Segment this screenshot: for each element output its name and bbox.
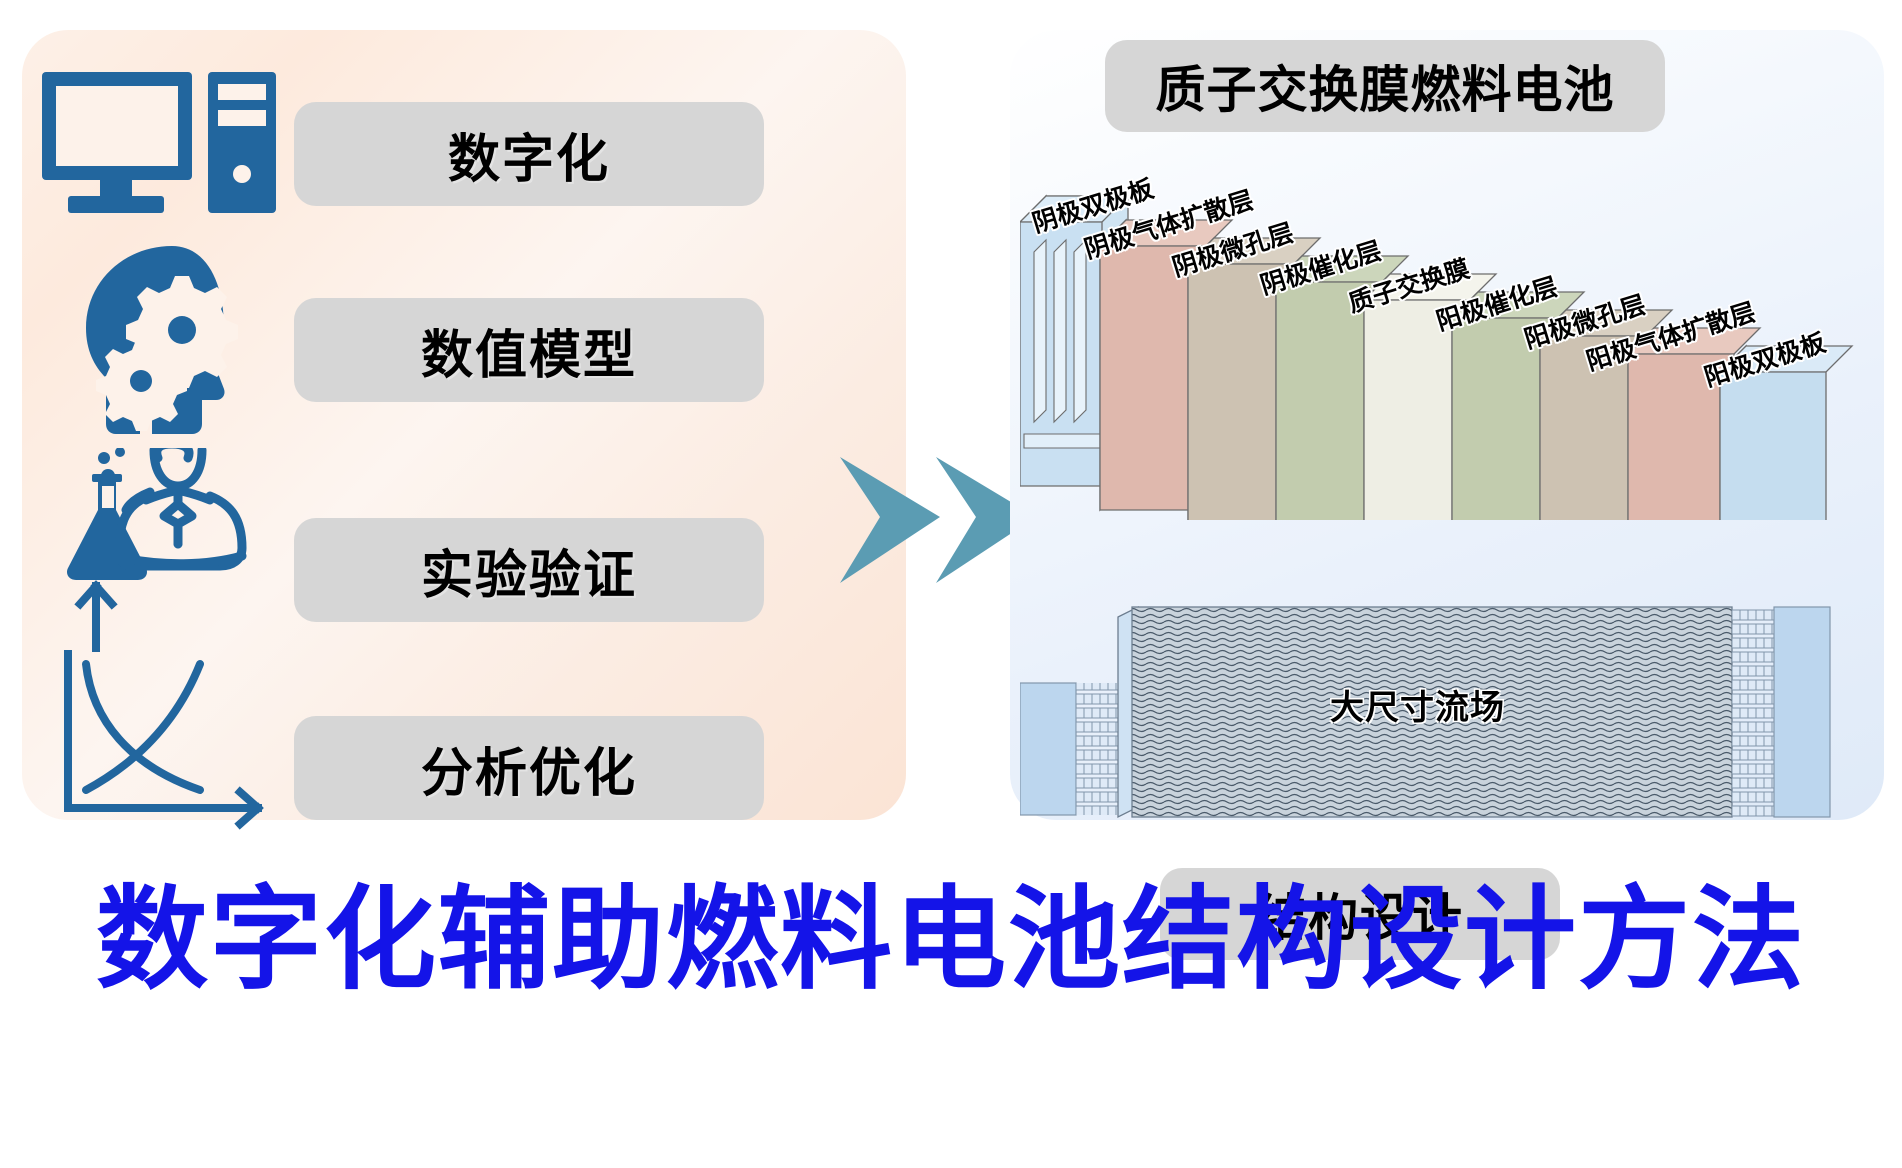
left-workflow-panel: 数字化 数值模型 实验验证 分析优化 — [22, 30, 906, 820]
step-label: 实验验证 — [421, 533, 637, 608]
fuel-cell-layer-stack: 阴极双极板 阴极气体扩散层 阴极微孔层 阴极催化层 质子交换膜 阳极催化层 阳极… — [1020, 160, 1900, 520]
step-pill-analysis-optimization[interactable]: 分析优化 — [294, 716, 764, 820]
chart-curves-icon — [52, 650, 282, 835]
scientist-flask-icon — [50, 448, 275, 653]
computer-icon — [40, 70, 280, 215]
step-label: 数字化 — [448, 117, 610, 192]
step-pill-numerical-model[interactable]: 数值模型 — [294, 298, 764, 402]
pemfc-title-label: 质子交换膜燃料电池 — [1156, 50, 1615, 122]
step-label: 数值模型 — [421, 313, 637, 388]
step-pill-experimental-validation[interactable]: 实验验证 — [294, 518, 764, 622]
step-label: 分析优化 — [421, 731, 637, 806]
step-pill-digitalization[interactable]: 数字化 — [294, 102, 764, 206]
flow-field-label: 大尺寸流场 — [1330, 680, 1505, 729]
pemfc-title-badge: 质子交换膜燃料电池 — [1105, 40, 1665, 132]
brain-gears-icon — [72, 242, 272, 442]
poster-main-title: 数字化辅助燃料电池结构设计方法 — [0, 830, 1902, 1030]
poster-canvas: 数字化 数值模型 实验验证 分析优化 质子交换膜燃料电池 — [0, 0, 1902, 1168]
